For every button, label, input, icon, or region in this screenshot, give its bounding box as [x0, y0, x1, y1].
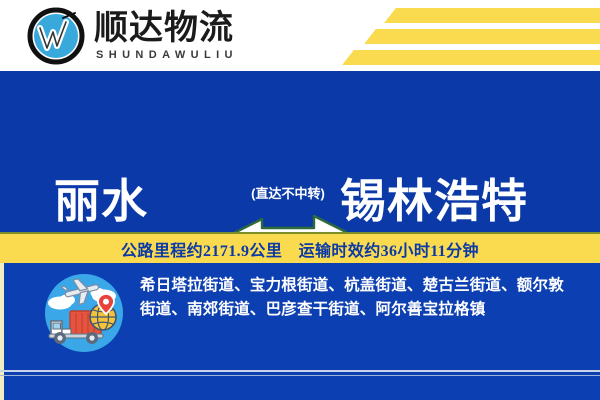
route-banner: 丽水 (直达不中转) 【往返运输】 锡林浩特 [0, 71, 600, 232]
distance-duration-band: 公路里程约2171.9公里 运输时效约36小时11分钟 [0, 232, 600, 263]
stripe-3 [342, 50, 600, 65]
stripe-2 [364, 29, 600, 44]
destination-city: 锡林浩特 [340, 179, 528, 225]
truck-plane-globe-illustration-icon [43, 272, 125, 354]
poster-header: 顺达物流 SHUNDAWULIU [0, 0, 600, 71]
left-edge-accent [0, 263, 4, 400]
stripe-1 [384, 8, 600, 23]
coverage-areas-text: 希日塔拉街道、宝力根街道、杭盖街道、楚古兰街道、额尔敦街道、南郊街道、巴彦查干街… [140, 274, 570, 321]
brand-logo: 顺达物流 SHUNDAWULIU [26, 6, 238, 66]
swoosh-circle-logo-icon [26, 6, 86, 66]
origin-city: 丽水 [54, 179, 148, 225]
distance-duration-text: 公路里程约2171.9公里 运输时效约36小时11分钟 [121, 237, 479, 261]
logistics-route-poster: 顺达物流 SHUNDAWULIU 丽水 (直达不中转) 【往返运输】 锡林浩特 … [0, 0, 600, 400]
brand-name-en: SHUNDAWULIU [96, 49, 238, 61]
decorative-stripes [330, 0, 600, 71]
brand-name-cn: 顺达物流 [94, 11, 238, 47]
direct-service-note: (直达不中转) [251, 183, 325, 202]
brand-text: 顺达物流 SHUNDAWULIU [94, 11, 238, 62]
divider-line-1 [0, 370, 600, 372]
divider-line-2 [0, 375, 600, 376]
